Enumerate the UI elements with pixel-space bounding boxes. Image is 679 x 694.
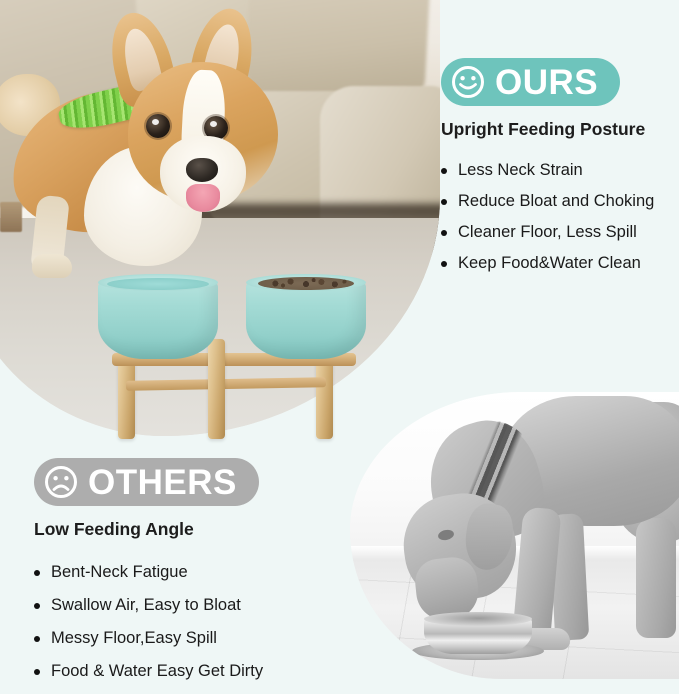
infographic-canvas: OURS Upright Feeding Posture Less Neck S… <box>0 0 679 679</box>
others-drawback-list: Bent-Neck Fatigue Swallow Air, Easy to B… <box>34 562 324 682</box>
ours-badge-label: OURS <box>495 65 598 100</box>
ours-benefit-list: Less Neck Strain Reduce Bloat and Chokin… <box>441 160 667 274</box>
corgi-tongue <box>186 184 220 212</box>
corgi-nose <box>186 158 218 182</box>
list-item: Reduce Bloat and Choking <box>441 191 667 212</box>
large-dog-bending <box>370 392 679 678</box>
smiley-face-icon <box>451 65 485 99</box>
food-bowl <box>246 281 366 359</box>
others-panel: OTHERS Low Feeding Angle Bent-Neck Fatig… <box>34 458 324 694</box>
corgi-dog <box>10 0 280 286</box>
water-bowl <box>98 281 218 359</box>
list-item: Bent-Neck Fatigue <box>34 562 324 583</box>
ours-panel: OURS Upright Feeding Posture Less Neck S… <box>441 58 667 284</box>
dog-hind-leg <box>636 518 676 638</box>
others-subtitle: Low Feeding Angle <box>34 519 324 540</box>
floor-level-steel-bowl <box>412 614 544 660</box>
list-item: Messy Floor,Easy Spill <box>34 628 324 649</box>
list-item: Less Neck Strain <box>441 160 667 181</box>
ours-badge: OURS <box>441 58 620 106</box>
others-badge: OTHERS <box>34 458 259 506</box>
stand-crossbar <box>126 377 326 390</box>
list-item: Food & Water Easy Get Dirty <box>34 661 324 682</box>
corgi-eye-left <box>146 114 170 138</box>
corgi-paw <box>32 254 72 278</box>
ours-subtitle: Upright Feeding Posture <box>441 119 667 140</box>
elevated-double-bowl-stand <box>98 273 368 445</box>
list-item: Cleaner Floor, Less Spill <box>441 222 667 243</box>
list-item: Swallow Air, Easy to Bloat <box>34 595 324 616</box>
stand-leg-center <box>208 339 225 439</box>
list-item: Keep Food&Water Clean <box>441 253 667 274</box>
others-comparison-photo <box>350 392 679 679</box>
others-badge-label: OTHERS <box>88 465 237 500</box>
sad-face-icon <box>44 465 78 499</box>
